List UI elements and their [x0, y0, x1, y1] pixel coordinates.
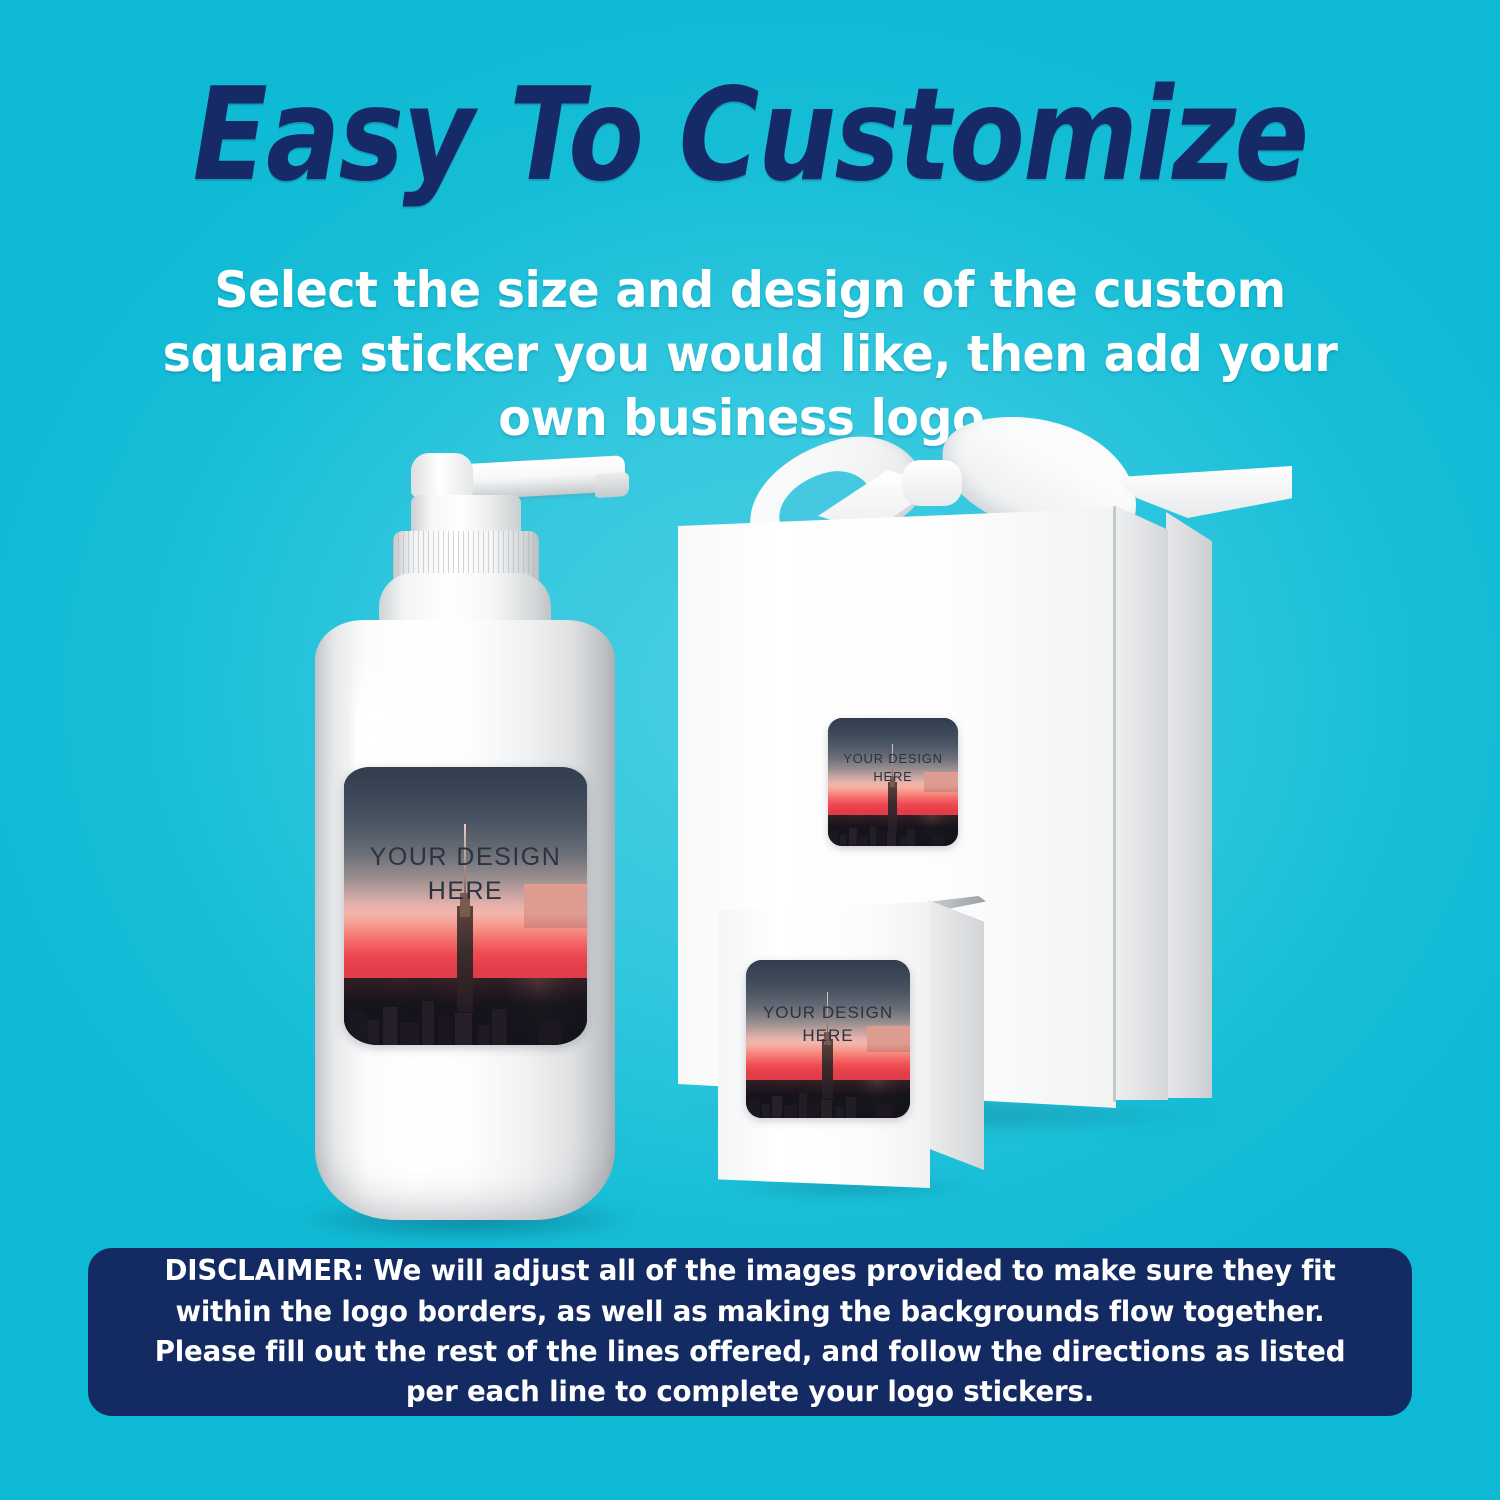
small-box-sticker-text: YOUR DESIGN HERE: [746, 1002, 910, 1048]
pump-head: [411, 453, 473, 497]
pump-bottle-mockup: YOUR DESIGN HERE: [295, 445, 635, 1235]
disclaimer-label: DISCLAIMER:: [165, 1254, 364, 1287]
bottle-label-sticker[interactable]: YOUR DESIGN HERE: [344, 767, 587, 1045]
disclaimer-banner: DISCLAIMER: We will adjust all of the im…: [88, 1248, 1412, 1416]
gift-box-sticker[interactable]: YOUR DESIGN HERE: [828, 718, 958, 846]
small-box-side-panel: [928, 900, 984, 1170]
sticker-skyscraper-icon: [457, 906, 473, 1012]
gift-box-back-panel: [1166, 512, 1212, 1098]
sticker-skyscraper-icon: [888, 782, 896, 831]
page-title: Easy To Customize: [105, 72, 1395, 200]
small-box-sticker[interactable]: YOUR DESIGN HERE: [746, 960, 910, 1118]
ribbon-knot: [902, 460, 962, 506]
bottle-label-text: YOUR DESIGN HERE: [344, 841, 587, 909]
gift-box-side-panel: [1116, 506, 1168, 1100]
pump-nozzle-tip: [595, 472, 629, 498]
gift-box-sticker-text: YOUR DESIGN HERE: [828, 750, 958, 785]
disclaimer-text: DISCLAIMER: We will adjust all of the im…: [152, 1251, 1347, 1413]
sticker-skyscraper-icon: [822, 1039, 833, 1099]
small-carton-mockup: YOUR DESIGN HERE: [700, 888, 1000, 1198]
gift-box-edge-seam: [1113, 506, 1116, 1102]
